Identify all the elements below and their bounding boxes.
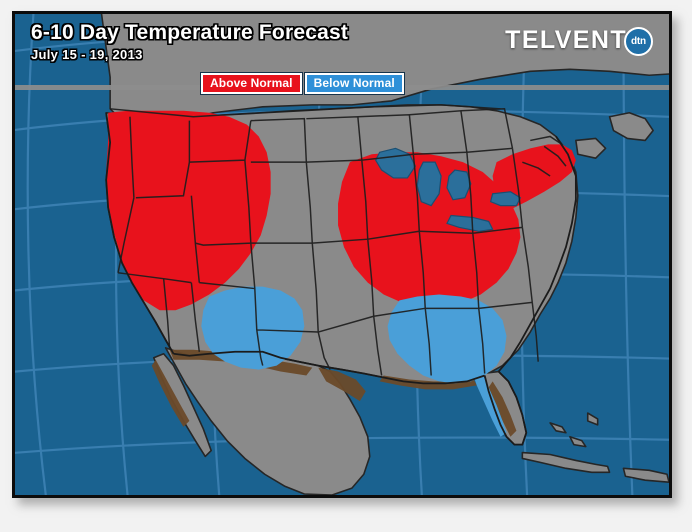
forecast-map-screenshot: 6-10 Day Temperature Forecast July 15 - … [0, 0, 692, 532]
dtn-badge-label: dtn [631, 37, 646, 47]
date-range-label: July 15 - 19, 2013 [31, 46, 348, 63]
brand-logo: TELVENT dtn [505, 24, 653, 56]
map-frame: 6-10 Day Temperature Forecast July 15 - … [12, 11, 672, 498]
dtn-badge-icon: dtn [624, 27, 653, 56]
legend-above-normal[interactable]: Above Normal [201, 73, 302, 94]
title-block: 6-10 Day Temperature Forecast July 15 - … [31, 20, 348, 63]
brand-name: TELVENT [505, 27, 627, 54]
page-title: 6-10 Day Temperature Forecast [31, 20, 348, 45]
legend-below-normal[interactable]: Below Normal [305, 73, 404, 94]
legend: Above Normal Below Normal [201, 73, 404, 94]
